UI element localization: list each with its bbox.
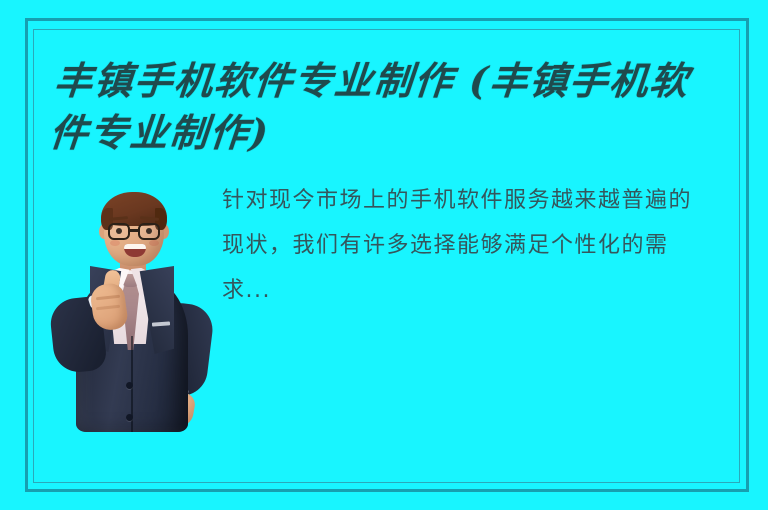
jacket-button-lower [126,414,133,421]
jacket-button-upper [126,382,133,389]
businessman-thumbs-up-illustration [46,186,218,432]
page-title: 丰镇手机软件专业制作 (丰镇手机软件专业制作) [47,55,726,159]
eyeglasses-lens-left [108,223,130,240]
cheek-left [110,240,120,246]
teeth [124,244,146,249]
eyeglasses-bridge [130,229,138,232]
body-paragraph: 针对现今市场上的手机软件服务越来越普遍的现状，我们有许多选择能够满足个性化的需求… [222,178,712,313]
cheek-right [149,240,159,246]
poster-canvas: 丰镇手机软件专业制作 (丰镇手机软件专业制作) 针对现今市场上的手机软件服务越来… [0,0,768,510]
eyeglasses-lens-right [138,223,160,240]
